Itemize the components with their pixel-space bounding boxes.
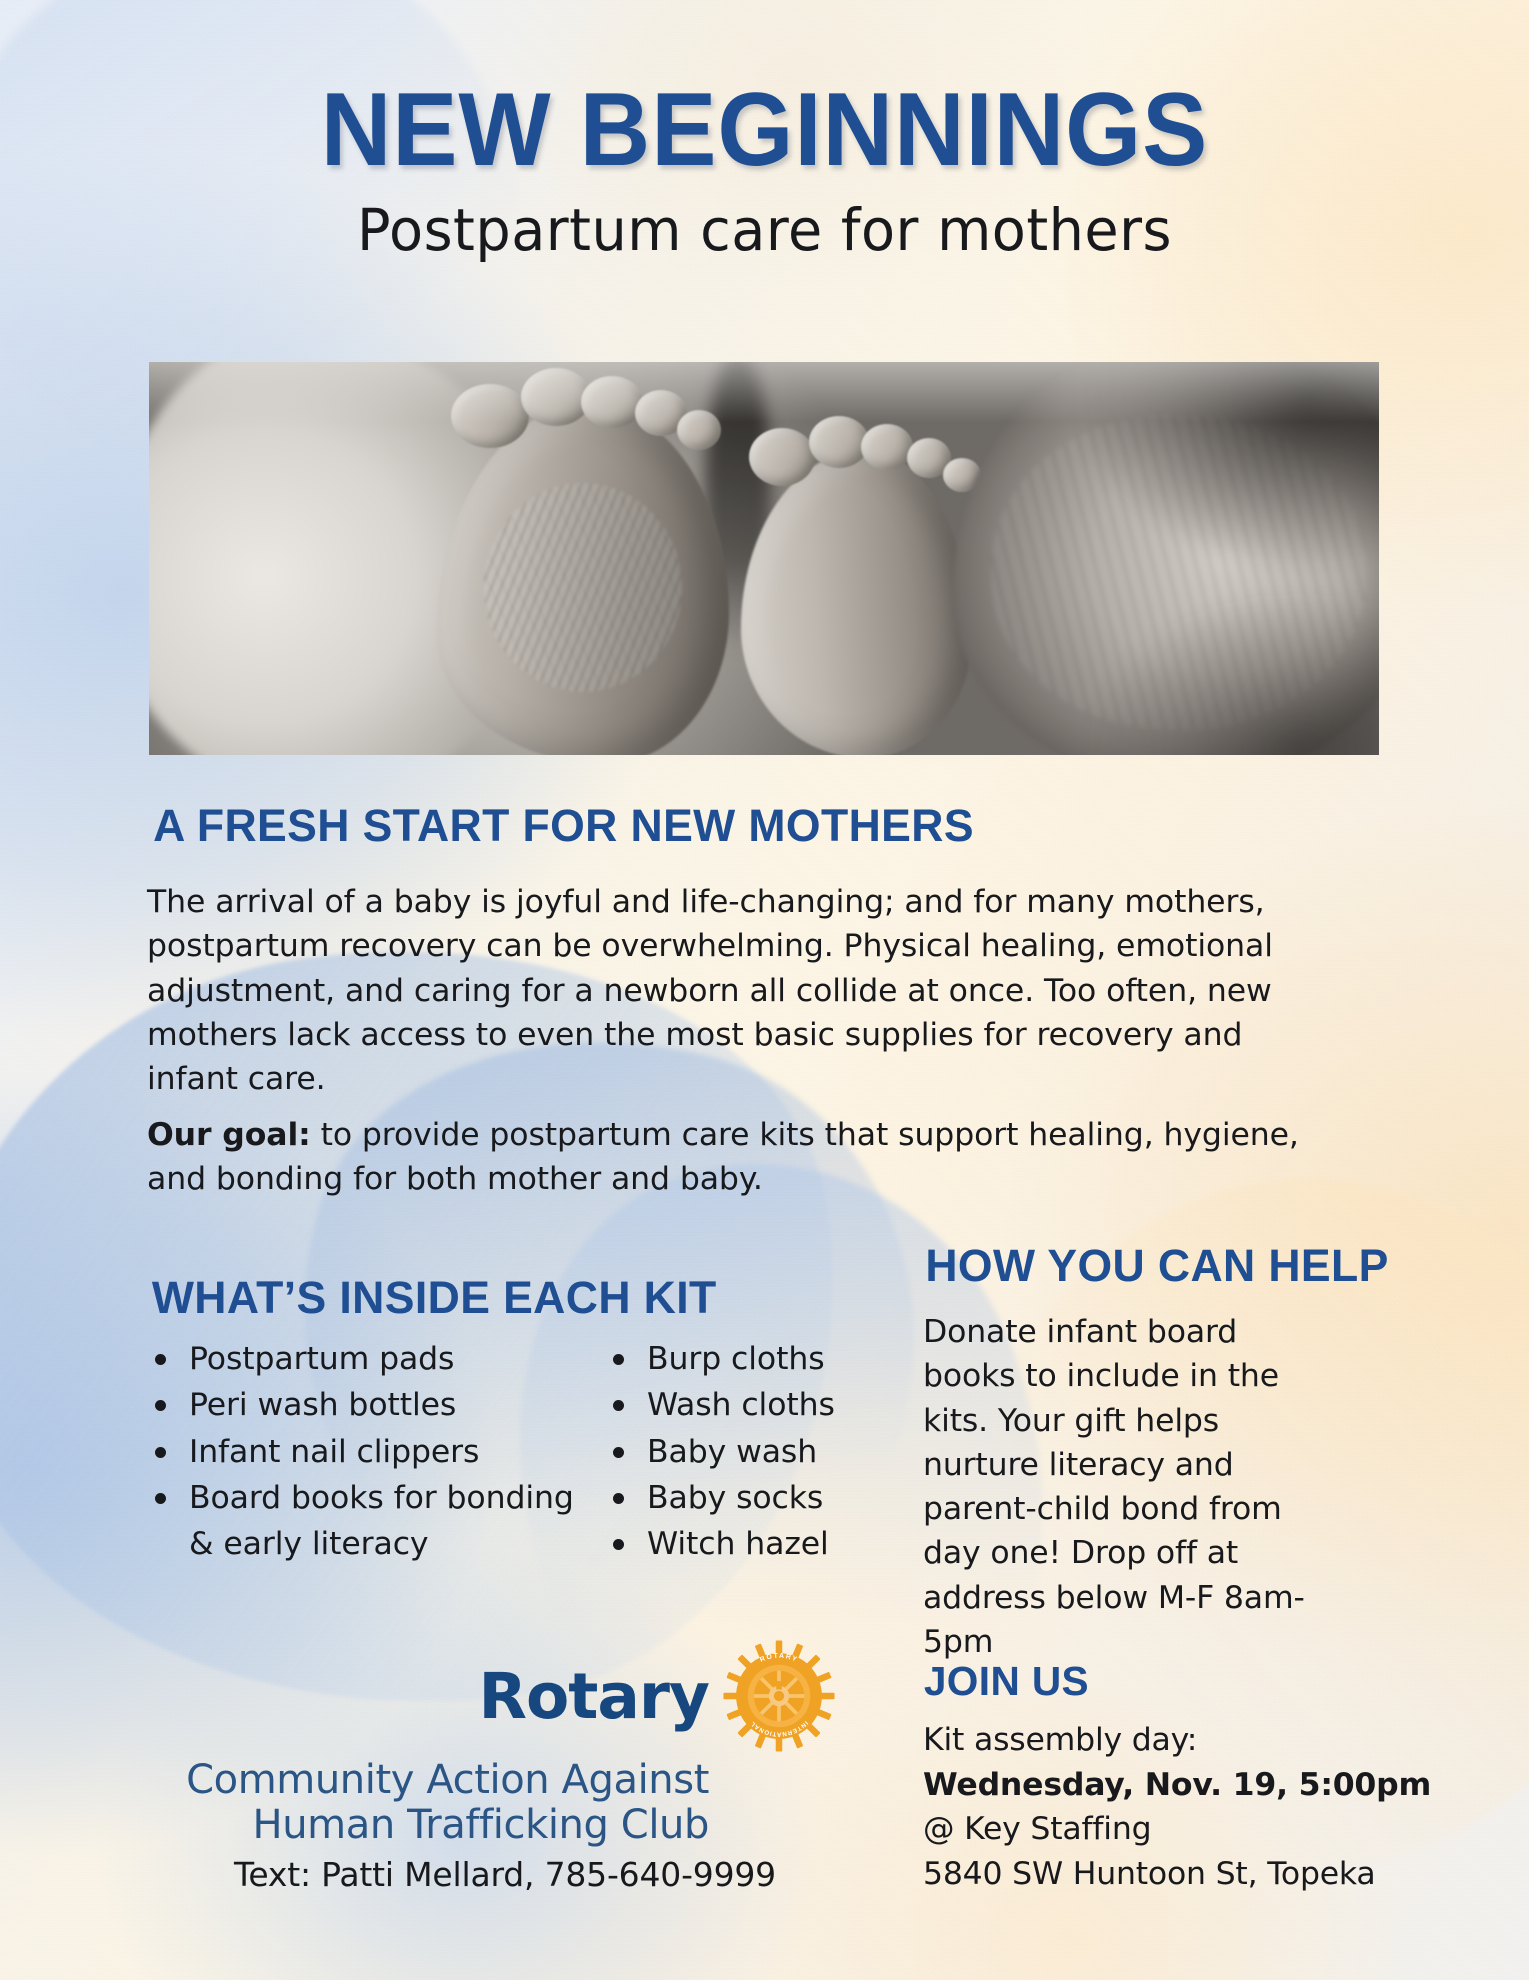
- bullet-icon: [613, 1400, 624, 1411]
- bullet-icon: [155, 1447, 166, 1458]
- list-item-label: Wash cloths: [647, 1387, 835, 1423]
- list-item-label: & early literacy: [189, 1526, 428, 1562]
- bullet-icon: [613, 1539, 624, 1550]
- list-item-label: Baby socks: [647, 1480, 823, 1516]
- rotary-logo-row: Rotary: [175, 1640, 835, 1752]
- list-item: Wash cloths: [605, 1383, 875, 1427]
- bullet-icon: [613, 1354, 624, 1365]
- kit-contents-columns: Postpartum pads Peri wash bottles Infant…: [147, 1337, 887, 1568]
- join-line-address: 5840 SW Huntoon St, Topeka: [923, 1852, 1373, 1897]
- rotary-club-name: Community Action Against Human Trafficki…: [175, 1758, 835, 1848]
- rotary-logo: Rotary: [175, 1640, 835, 1848]
- rotary-club-line-2: Human Trafficking Club: [175, 1803, 709, 1848]
- photo-toe: [749, 428, 815, 486]
- list-item-label: Burp cloths: [647, 1341, 825, 1377]
- list-item-label: Peri wash bottles: [189, 1387, 456, 1423]
- section-heading-how-you-can-help: HOW YOU CAN HELP: [925, 1240, 1388, 1292]
- flyer-subtitle: Postpartum care for mothers: [31, 200, 1499, 261]
- list-item-continuation: & early literacy: [147, 1522, 577, 1566]
- how-you-can-help-paragraph: Donate infant board books to include in …: [923, 1310, 1333, 1664]
- flyer-title: NEW BEGINNINGS: [46, 78, 1483, 182]
- fresh-start-paragraph: The arrival of a baby is joyful and life…: [147, 880, 1307, 1101]
- join-us-details: Kit assembly day: Wednesday, Nov. 19, 5:…: [923, 1718, 1373, 1897]
- list-item: Peri wash bottles: [147, 1383, 577, 1427]
- join-line-date-time: Wednesday, Nov. 19, 5:00pm: [923, 1763, 1373, 1808]
- bullet-icon: [613, 1493, 624, 1504]
- list-item-label: Baby wash: [647, 1434, 817, 1470]
- kit-list-column-left: Postpartum pads Peri wash bottles Infant…: [147, 1337, 577, 1568]
- list-item-label: Witch hazel: [647, 1526, 829, 1562]
- list-item: Board books for bonding: [147, 1476, 577, 1520]
- flyer-page: NEW BEGINNINGS Postpartum care for mothe…: [0, 0, 1529, 1980]
- list-item-label: Infant nail clippers: [189, 1434, 479, 1470]
- list-item: Witch hazel: [605, 1522, 875, 1566]
- rotary-wheel-icon: ROTARY INTERNATIONAL: [723, 1640, 835, 1752]
- photo-toe: [861, 424, 913, 470]
- list-item-label: Postpartum pads: [189, 1341, 454, 1377]
- join-line-venue: @ Key Staffing: [923, 1807, 1373, 1852]
- bullet-icon: [155, 1354, 166, 1365]
- section-heading-join-us: JOIN US: [924, 1658, 1089, 1705]
- bullet-icon: [613, 1447, 624, 1458]
- goal-paragraph: Our goal: to provide postpartum care kit…: [147, 1113, 1322, 1202]
- kit-list-column-right: Burp cloths Wash cloths Baby wash Baby s…: [605, 1337, 875, 1568]
- photo-dark-corner-bottom: [1089, 595, 1379, 755]
- rotary-wordmark: Rotary: [478, 1665, 709, 1728]
- list-item: Infant nail clippers: [147, 1430, 577, 1474]
- list-item: Baby wash: [605, 1430, 875, 1474]
- section-heading-fresh-start: A FRESH START FOR NEW MOTHERS: [153, 800, 974, 852]
- goal-text: to provide postpartum care kits that sup…: [147, 1117, 1299, 1197]
- bullet-icon: [155, 1493, 166, 1504]
- list-item-label: Board books for bonding: [189, 1480, 574, 1516]
- photo-toe: [809, 416, 869, 468]
- list-item: Burp cloths: [605, 1337, 875, 1381]
- join-line-assembly-day: Kit assembly day:: [923, 1718, 1373, 1763]
- bullet-icon: [155, 1400, 166, 1411]
- hero-photo-baby-feet: [149, 362, 1379, 755]
- list-item: Baby socks: [605, 1476, 875, 1520]
- rotary-club-line-1: Community Action Against: [175, 1758, 709, 1803]
- section-heading-kit-contents: WHAT’S INSIDE EACH KIT: [152, 1272, 717, 1324]
- contact-text-line: Text: Patti Mellard, 785-640-9999: [175, 1855, 835, 1894]
- list-item: Postpartum pads: [147, 1337, 577, 1381]
- photo-top-highlight: [149, 362, 1379, 422]
- goal-label: Our goal:: [147, 1117, 311, 1153]
